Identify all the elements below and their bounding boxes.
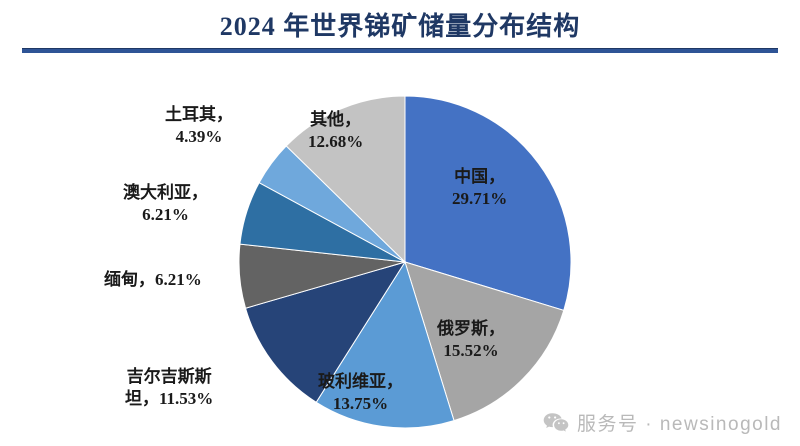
- pie-label-bolivia: 玻利维亚， 13.75%: [318, 371, 403, 415]
- pie-label-australia: 澳大利亚， 6.21%: [123, 182, 208, 226]
- pie-slice-group: [239, 96, 571, 428]
- pie-label-china: 中国， 29.71%: [452, 166, 507, 210]
- pie-label-russia: 俄罗斯， 15.52%: [437, 318, 505, 362]
- pie-label-turkey-value: 4.39%: [176, 127, 223, 146]
- pie-label-russia-value: 15.52%: [443, 341, 498, 360]
- pie-chart: 中国， 29.71% 俄罗斯， 15.52% 玻利维亚， 13.75% 吉尔吉斯…: [0, 56, 800, 446]
- pie-label-russia-name: 俄罗斯，: [437, 319, 505, 338]
- pie-label-australia-value: 6.21%: [142, 205, 189, 224]
- pie-label-bolivia-value: 13.75%: [333, 394, 388, 413]
- title-divider: [22, 48, 778, 53]
- pie-label-kyrgyzstan-value: 坦，11.53%: [125, 389, 213, 408]
- pie-label-other-name: 其他，: [310, 110, 361, 129]
- pie-label-turkey-name: 土耳其，: [165, 105, 233, 124]
- title-block: 2024 年世界锑矿储量分布结构: [0, 0, 800, 56]
- pie-label-kyrgyzstan-name: 吉尔吉斯斯: [127, 367, 212, 386]
- pie-label-china-value: 29.71%: [452, 189, 507, 208]
- pie-label-china-name: 中国，: [454, 167, 505, 186]
- page-title: 2024 年世界锑矿储量分布结构: [0, 6, 800, 43]
- pie-label-other-value: 12.68%: [308, 132, 363, 151]
- pie-label-australia-name: 澳大利亚，: [123, 183, 208, 202]
- pie-label-myanmar-name: 缅甸，6.21%: [104, 270, 202, 289]
- pie-label-turkey: 土耳其， 4.39%: [165, 104, 233, 148]
- watermark-text: 服务号 · newsinogold: [577, 409, 782, 436]
- pie-label-other: 其他， 12.68%: [308, 109, 363, 153]
- watermark: 服务号 · newsinogold: [543, 409, 782, 436]
- pie-label-kyrgyzstan: 吉尔吉斯斯 坦，11.53%: [125, 366, 213, 410]
- wechat-icon: [543, 412, 569, 434]
- pie-label-bolivia-name: 玻利维亚，: [318, 372, 403, 391]
- pie-label-myanmar: 缅甸，6.21%: [104, 269, 202, 291]
